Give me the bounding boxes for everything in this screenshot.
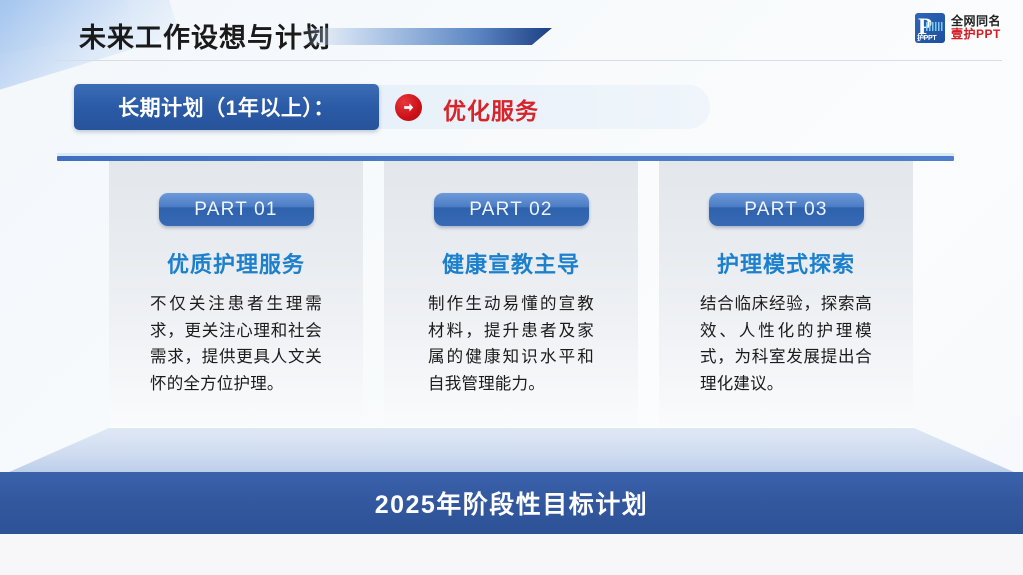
brand-waveform-icon [926,22,943,31]
panel-part-01[interactable]: PART 01 优质护理服务 不仅关注患者生理需求，更关注心理和社会需求，提供更… [109,161,363,437]
panel-group: PART 01 优质护理服务 不仅关注患者生理需求，更关注心理和社会需求，提供更… [109,161,914,437]
slide-footer: 【壹护PPT微信公众号】-定制-精修-代做-美化 [0,534,1023,575]
panel-body-03: 结合临床经验，探索高效、人性化的护理模式，为科室发展提出合理化建议。 [700,291,872,398]
part-badge-03: PART 03 [709,193,864,226]
plan-label-text: 长期计划（1年以上）： [118,92,335,122]
panel-heading-02: 健康宣教主导 [384,247,638,279]
part-badge-label: PART 02 [469,199,552,221]
brand-text-block: 全网同名 壹护PPT [951,15,1001,40]
part-badge-label: PART 03 [744,199,827,221]
brand-logo: P 护PPT 全网同名 壹护PPT [915,13,1001,43]
panel-heading-01: 优质护理服务 [109,247,363,279]
part-badge-02: PART 02 [434,193,589,226]
panel-body-02: 制作生动易懂的宣教材料，提升患者及家属的健康知识水平和自我管理能力。 [428,291,594,398]
red-circle-arrow-icon [395,94,422,121]
platform-shape [0,428,1023,476]
slide-header: 未来工作设想与计划 P 护PPT 全网同名 壹护PPT [0,0,1023,62]
part-badge-label: PART 01 [194,199,277,221]
panel-heading-03: 护理模式探索 [659,247,913,279]
bottom-bar-label: 2025年阶段性目标计划 [375,485,649,521]
brand-mark-sublabel: 护PPT [917,33,936,43]
brand-line-2: 壹护PPT [951,28,1001,41]
part-badge-01: PART 01 [159,193,314,226]
slide-canvas: 未来工作设想与计划 P 护PPT 全网同名 壹护PPT 长期计划（1年以上）： … [0,0,1023,575]
title-accent-bar [300,28,552,45]
panel-body-01: 不仅关注患者生理需求，更关注心理和社会需求，提供更具人文关怀的全方位护理。 [150,291,322,398]
header-divider [52,60,1002,61]
page-title: 未来工作设想与计划 [79,16,331,55]
brand-mark-icon: P 护PPT [915,13,945,43]
subtitle-highlight-text: 优化服务 [443,92,539,126]
plan-label-chip: 长期计划（1年以上）： [74,84,379,130]
panel-part-03[interactable]: PART 03 护理模式探索 结合临床经验，探索高效、人性化的护理模式，为科室发… [659,161,913,437]
bottom-bar: 2025年阶段性目标计划 [0,472,1023,534]
panel-part-02[interactable]: PART 02 健康宣教主导 制作生动易懂的宣教材料，提升患者及家属的健康知识水… [384,161,638,437]
